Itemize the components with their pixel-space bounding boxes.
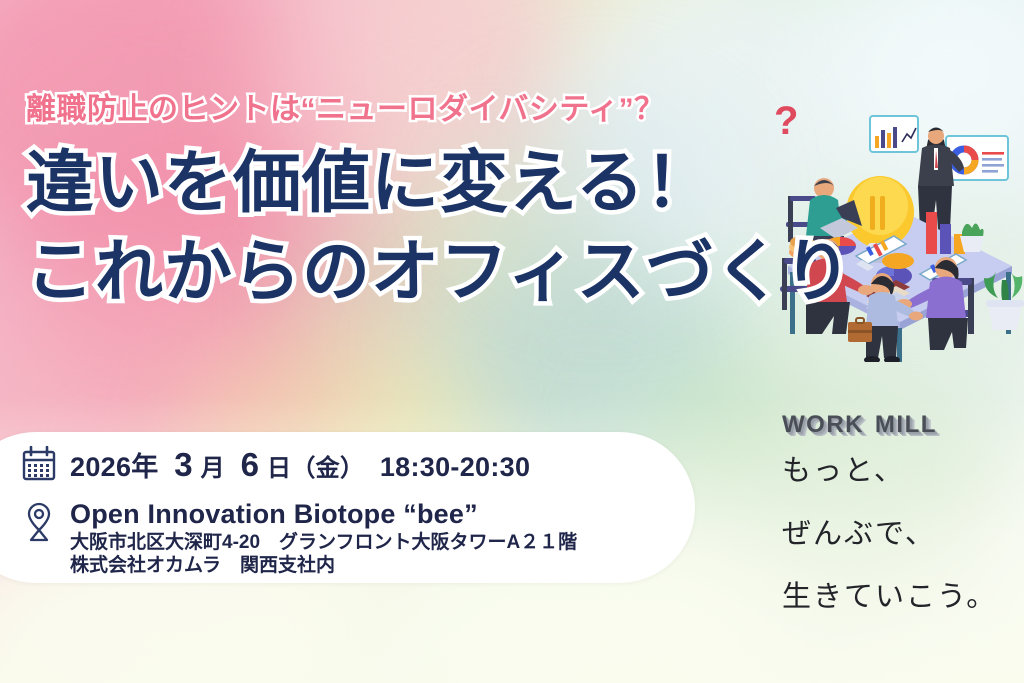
date-day-number: 6	[241, 446, 260, 483]
headline-line-1: 違いを価値に変える！	[26, 145, 714, 221]
date-year: 2026年	[70, 452, 159, 482]
brand-block: WORK MILL もっと、 ぜんぶで、 生きていこう。	[782, 404, 1018, 611]
date-month-unit: 月	[201, 455, 225, 482]
event-time-range: 18:30-20:30	[380, 452, 530, 482]
event-subtitle: 離職防止のヒントは“ニューロダイバシティ”？	[26, 92, 826, 128]
tagline-line-3: 生きていこう。	[782, 582, 1018, 611]
date-month-number: 3	[174, 446, 193, 483]
calendar-icon	[22, 446, 56, 486]
map-pin-icon	[22, 500, 56, 540]
venue-block: Open Innovation Biotope “bee” 大阪市北区大深町4-…	[70, 498, 577, 577]
venue-address-line-1: 大阪市北区大深町4-20 グランフロント大阪タワーA２１階	[70, 531, 577, 554]
potted-plant-floor	[984, 270, 1024, 330]
brand-tagline: もっと、 ぜんぶで、 生きていこう。	[782, 456, 1018, 611]
date-day-unit: 日（金）	[267, 455, 364, 482]
event-headline: 違いを価値に変える！ これからのオフィスづくり	[26, 142, 826, 314]
event-venue-row: Open Innovation Biotope “bee” 大阪市北区大深町4-…	[22, 500, 577, 577]
headline-block: 離職防止のヒントは“ニューロダイバシティ”？ 違いを価値に変える！ これからのオ…	[26, 92, 826, 314]
venue-address-line-2: 株式会社オカムラ 関西支社内	[70, 554, 577, 577]
tagline-line-2: ぜんぶで、	[782, 519, 1018, 548]
tagline-line-1: もっと、	[782, 456, 1018, 485]
potted-plant-table	[960, 223, 984, 252]
bar-chart-board	[870, 116, 918, 152]
venue-name: Open Innovation Biotope “bee”	[70, 498, 577, 531]
work-mill-logo: WORK MILL	[782, 404, 1018, 438]
headline-line-2: これからのオフィスづくり	[26, 231, 826, 314]
event-banner: ?	[0, 0, 1024, 683]
event-date-row: 2026年 3 月 6 日（金） 18:30-20:30	[22, 446, 530, 488]
event-date-text: 2026年 3 月 6 日（金） 18:30-20:30	[70, 446, 530, 488]
event-info-card: 2026年 3 月 6 日（金） 18:30-20:30	[0, 432, 695, 583]
